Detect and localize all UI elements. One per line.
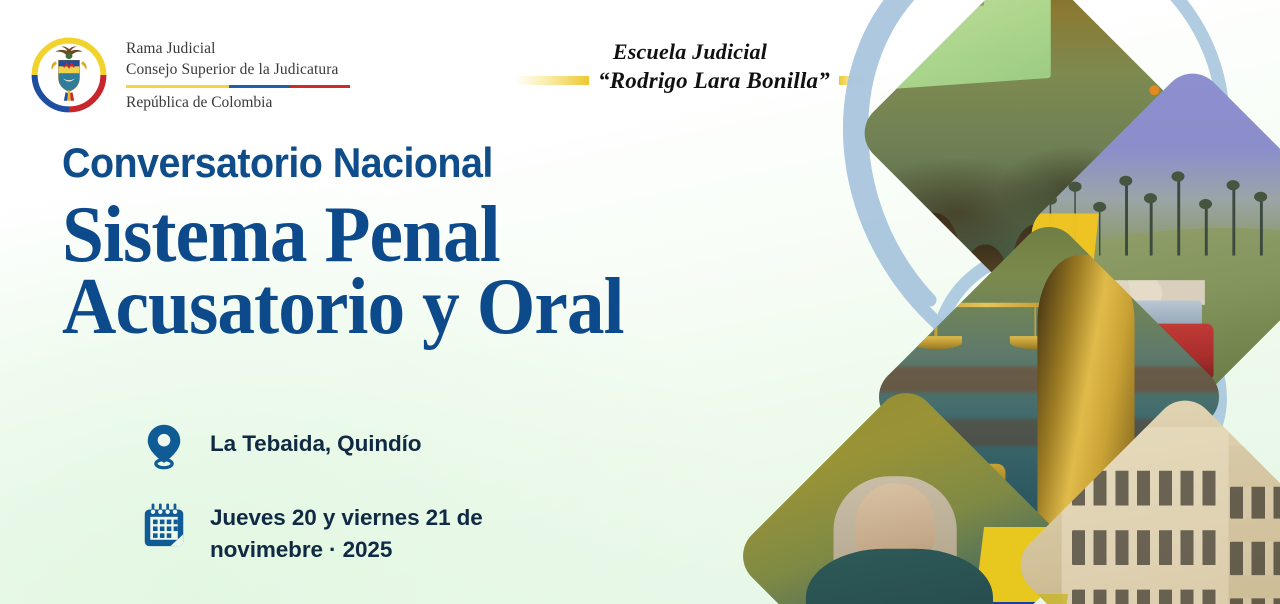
photo-collage bbox=[740, 0, 1280, 604]
divider-blue bbox=[229, 85, 289, 88]
event-banner: Rama Judicial Consejo Superior de la Jud… bbox=[0, 0, 1280, 604]
event-details: La Tebaida, Quindío bbox=[140, 420, 483, 594]
date-line-1: Jueves 20 y viernes 21 de bbox=[210, 505, 483, 530]
divider-red bbox=[290, 85, 351, 88]
headline-line-2: Acusatorio y Oral bbox=[62, 268, 624, 346]
tricolor-divider bbox=[126, 85, 350, 88]
rama-judicial-logo: Rama Judicial Consejo Superior de la Jud… bbox=[26, 32, 350, 118]
location-row: La Tebaida, Quindío bbox=[140, 420, 483, 472]
location-text: La Tebaida, Quindío bbox=[210, 420, 421, 460]
divider-yellow bbox=[126, 85, 229, 88]
gold-flourish-left-icon bbox=[515, 76, 589, 85]
logo-text-block: Rama Judicial Consejo Superior de la Jud… bbox=[126, 37, 350, 113]
logo-line-2: Consejo Superior de la Judicatura bbox=[126, 60, 350, 80]
date-text: Jueves 20 y viernes 21 de novimebre · 20… bbox=[210, 500, 483, 566]
logo-line-1: Rama Judicial bbox=[126, 39, 350, 59]
logo-line-3: República de Colombia bbox=[126, 93, 350, 113]
date-row: Jueves 20 y viernes 21 de novimebre · 20… bbox=[140, 500, 483, 566]
calendar-icon bbox=[140, 500, 188, 552]
map-pin-icon bbox=[140, 420, 188, 472]
date-line-2: novimebre · 2025 bbox=[210, 537, 392, 562]
escudo-colombia-icon bbox=[26, 32, 112, 118]
title-block: Conversatorio Nacional Sistema Penal Acu… bbox=[62, 142, 666, 346]
event-headline: Sistema Penal Acusatorio y Oral bbox=[62, 196, 624, 346]
event-kicker: Conversatorio Nacional bbox=[62, 142, 630, 184]
